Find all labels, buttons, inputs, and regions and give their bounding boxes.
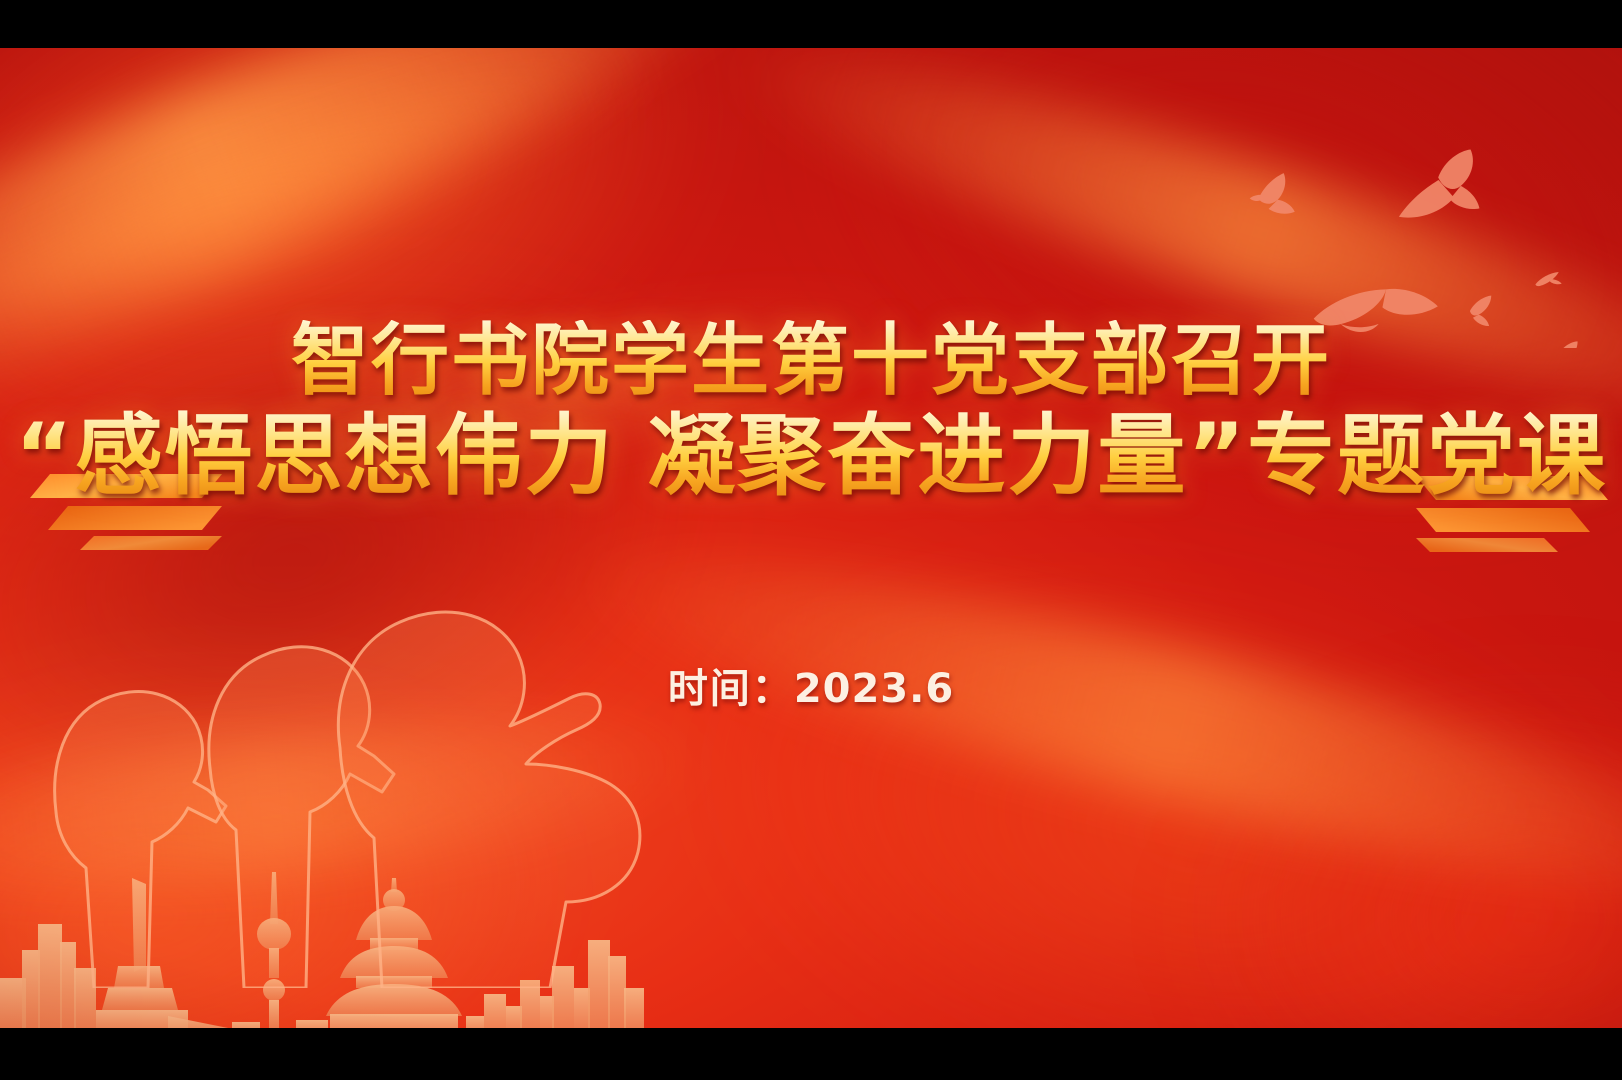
party-lecture-poster: 智行书院学生第十党支部召开 “感悟思想伟力 凝聚奋进力量”专题党课 时间：202…: [0, 0, 1622, 1080]
saluting-soldiers-icon: [30, 568, 670, 988]
flying-doves-icon: [1180, 148, 1600, 348]
gold-ribbon-banner-left-icon: [16, 466, 226, 552]
letterbox-bar-top: [0, 0, 1622, 48]
letterbox-bar-bottom: [0, 1028, 1622, 1080]
red-satin-background: [0, 48, 1622, 1028]
gold-ribbon-banner-right-icon: [1410, 470, 1622, 554]
